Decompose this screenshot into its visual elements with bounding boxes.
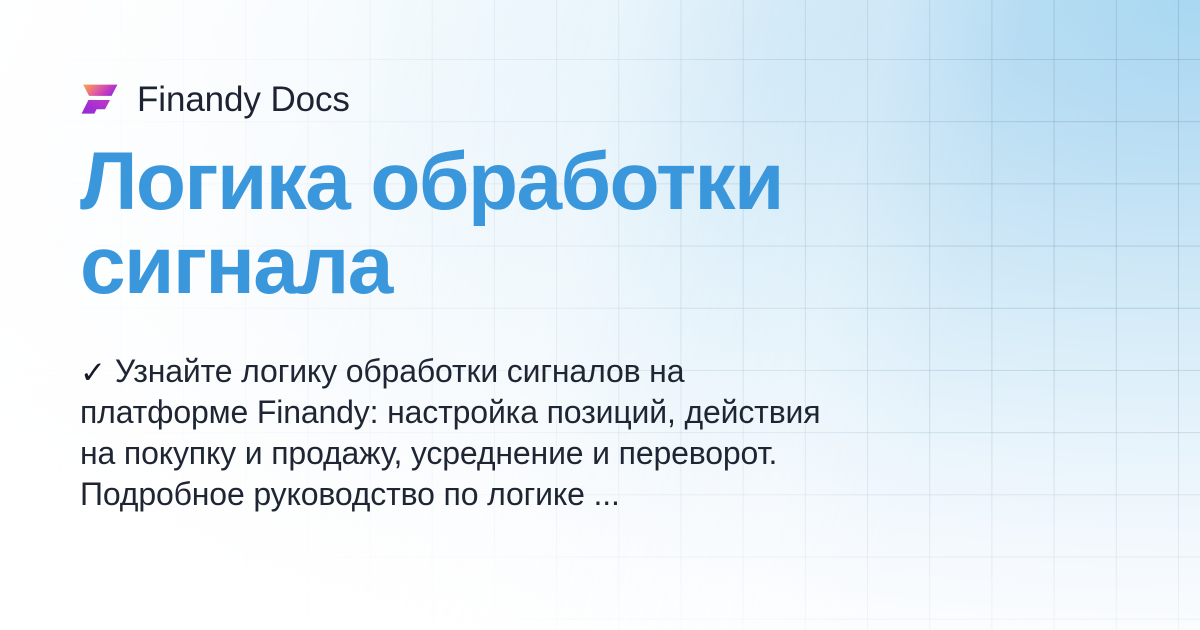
- page-title: Логика обработки сигнала: [80, 140, 960, 307]
- page-description-text: Узнайте логику обработки сигналов на пла…: [80, 353, 820, 512]
- brand-name: Finandy Docs: [137, 82, 350, 117]
- check-icon: ✓: [80, 357, 106, 388]
- card-content: Finandy Docs Логика обработки сигнала ✓У…: [80, 76, 1120, 515]
- brand-header: Finandy Docs: [80, 76, 1120, 122]
- page-description: ✓Узнайте логику обработки сигналов на пл…: [80, 351, 855, 515]
- og-card: Finandy Docs Логика обработки сигнала ✓У…: [0, 0, 1200, 630]
- finandy-f-logo-icon: [80, 79, 120, 119]
